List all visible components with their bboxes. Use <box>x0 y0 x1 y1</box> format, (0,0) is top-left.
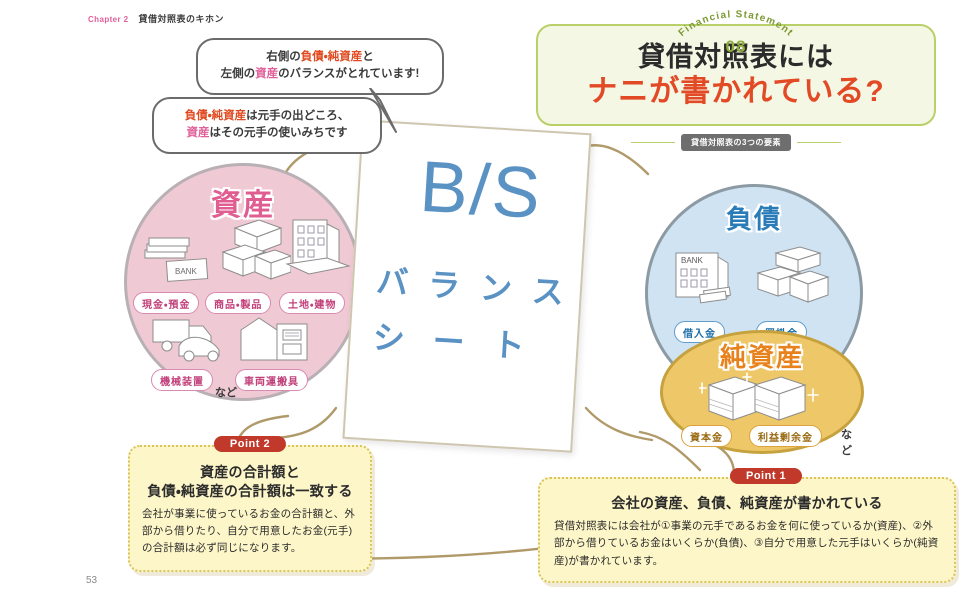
lesson-number: 08 <box>726 37 747 57</box>
assets-pill-2: 商品・製品 <box>205 292 271 314</box>
point-1-tag: Point 1 <box>730 468 802 484</box>
point-1-heading-line1: 会社の資産、負債、純資産が書かれている <box>554 494 940 513</box>
bs-kana-1-1: ラ <box>427 259 470 307</box>
assets-pill-4: 機械装置 <box>151 369 213 391</box>
balance-bubble-l2c: のバランスがとれています! <box>278 68 419 80</box>
source-speech-bubble: 負債・純資産は元手の出どころ、 資産はその元手の使いみちです <box>152 97 382 154</box>
balance-bubble-l2b: 資産 <box>255 68 278 80</box>
lesson-title-line2: ナニが書かれている? <box>548 75 924 110</box>
arc-text-path: Financial Statement <box>677 9 796 39</box>
boxes-icon <box>215 214 291 290</box>
three-elements-label: 貸借対照表の3つの要素 <box>681 134 791 151</box>
assets-pill-1: 現金・預金 <box>133 292 199 314</box>
balance-bubble-l1b: 負債・純資産 <box>301 51 362 63</box>
chapter-number: Chapter 2 <box>88 15 129 24</box>
svg-text:Financial Statement: Financial Statement <box>677 9 796 39</box>
truck-car-icon <box>149 316 229 364</box>
bs-kana-1-3: ス <box>531 266 574 314</box>
chapter-header: Chapter 2 貸借対照表のキホン <box>88 12 224 25</box>
point-1-heading: 会社の資産、負債、純資産が書かれている <box>554 494 940 513</box>
textbook-spread: Chapter 2 貸借対照表のキホン 53 52 資産 BANK <box>0 0 970 600</box>
source-bubble-l2a: 資産 <box>187 127 210 139</box>
sub-label-rule-left <box>631 142 675 143</box>
net-assets-pill-2: 利益剰余金 <box>749 425 822 447</box>
svg-text:BANK: BANK <box>175 267 197 276</box>
source-bubble-l2b: はその元手の使いみちです <box>210 127 348 139</box>
bank-building-icon: BANK <box>670 247 746 309</box>
point-2-body: 会社が事業に使っているお金の合計額と、外部から借りたり、自分で用意したお金(元手… <box>142 506 358 558</box>
lesson-title-box: Financial Statement 08 貸借対照表には ナニが書かれている… <box>536 24 936 126</box>
bs-kana-1-0: バ <box>375 256 418 304</box>
bs-kana-2-0: シ <box>372 312 415 360</box>
point-2-heading-line1: 資産の合計額と <box>142 463 358 482</box>
balance-bubble-l2a: 左側の <box>221 68 256 80</box>
assets-circle: 資産 BANK <box>124 163 362 401</box>
balance-sheet-paper-content: B/S バ ラ ン ス シ ー ト <box>357 134 585 442</box>
balance-speech-bubble: 右側の負債・純資産と 左側の資産のバランスがとれています! <box>196 38 444 95</box>
point-1-box: Point 1 会社の資産、負債、純資産が書かれている 貸借対照表には会社が①事… <box>538 477 956 583</box>
bs-kana-1-2: ン <box>479 263 522 311</box>
liabilities-title: 負債 <box>648 199 860 236</box>
factory-machine-icon <box>237 314 313 366</box>
lesson-title-block: Financial Statement 08 貸借対照表には ナニが書かれている… <box>536 24 936 126</box>
balance-bubble-line2: 左側の資産のバランスがとれています! <box>212 66 428 83</box>
net-assets-pill-1: 資本金 <box>681 425 732 447</box>
bs-abbreviation: B/S <box>384 149 578 232</box>
bs-kana-2-1: ー <box>431 316 474 364</box>
source-bubble-l1b: は元手の出どころ、 <box>246 110 349 122</box>
net-assets-title: 純資産 <box>663 337 861 374</box>
money-bundles-icon <box>699 371 823 427</box>
assets-etc: など <box>215 384 237 400</box>
net-assets-etc: など <box>841 426 861 458</box>
source-bubble-line2: 資産はその元手の使いみちです <box>168 125 366 142</box>
assets-pill-5: 車両運搬具 <box>235 369 308 391</box>
three-elements-label-wrap: 貸借対照表の3つの要素 <box>631 134 841 151</box>
svg-text:BANK: BANK <box>681 256 703 265</box>
source-bubble-l1a: 負債・純資産 <box>185 110 246 122</box>
assets-pill-3: 土地・建物 <box>279 292 345 314</box>
bs-kana-line-1: バ ラ ン ス <box>371 256 577 314</box>
point-2-heading-line2: 負債・純資産の合計額は一致する <box>142 482 358 501</box>
page-number-left: 53 <box>86 575 97 586</box>
point-1-body: 貸借対照表には会社が①事業の元手であるお金を何に使っているか(資産)、②外部から… <box>554 518 940 570</box>
building-land-icon <box>285 216 351 286</box>
balance-bubble-l1c: と <box>362 51 374 63</box>
cash-bank-icon: BANK <box>141 236 213 288</box>
cash-stacks-icon <box>754 243 830 313</box>
chapter-title: 貸借対照表のキホン <box>139 12 225 25</box>
point-2-tag: Point 2 <box>214 436 286 452</box>
net-assets-circle: 純資産 資本金 利益剰余金 など <box>660 330 864 454</box>
point-2-heading: 資産の合計額と 負債・純資産の合計額は一致する <box>142 463 358 501</box>
bs-kana-2-2: ト <box>491 319 534 367</box>
sub-label-rule-right <box>797 142 841 143</box>
point-2-box: Point 2 資産の合計額と 負債・純資産の合計額は一致する 会社が事業に使っ… <box>128 445 372 572</box>
source-bubble-line1: 負債・純資産は元手の出どころ、 <box>168 108 366 125</box>
balance-bubble-line1: 右側の負債・純資産と <box>212 49 428 66</box>
bs-kana-line-2: シ ー ト <box>368 312 538 368</box>
balance-bubble-l1a: 右側の <box>266 51 301 63</box>
